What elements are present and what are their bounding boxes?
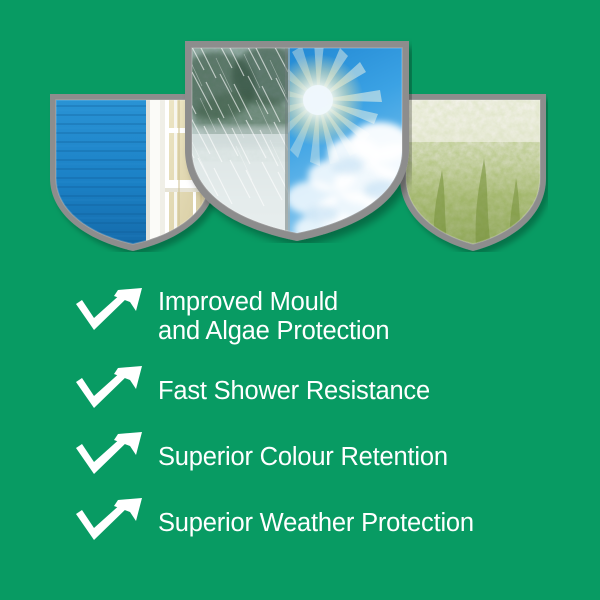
- benefit-item-3: Superior Colour Retention: [0, 424, 600, 490]
- benefit-label: Fast Shower Resistance: [158, 377, 430, 406]
- check-arrow-icon: [74, 432, 146, 482]
- product-benefits-poster: Improved Mould and Algae Protection Fast…: [0, 0, 600, 600]
- benefit-item-1: Improved Mould and Algae Protection: [0, 280, 600, 358]
- shield-right: [398, 92, 548, 252]
- check-arrow-icon: [74, 288, 146, 338]
- benefits-list: Improved Mould and Algae Protection Fast…: [0, 280, 600, 556]
- shield-group: [0, 0, 600, 260]
- check-arrow-icon: [74, 366, 146, 416]
- shield-centre: [182, 38, 412, 243]
- benefit-label: Improved Mould and Algae Protection: [158, 288, 389, 345]
- benefit-label: Superior Weather Protection: [158, 509, 474, 538]
- benefit-item-4: Superior Weather Protection: [0, 490, 600, 556]
- shield-scene-centre: [182, 38, 412, 243]
- benefit-item-2: Fast Shower Resistance: [0, 358, 600, 424]
- benefit-label: Superior Colour Retention: [158, 443, 448, 472]
- shield-scene-right: [398, 92, 548, 252]
- check-arrow-icon: [74, 498, 146, 548]
